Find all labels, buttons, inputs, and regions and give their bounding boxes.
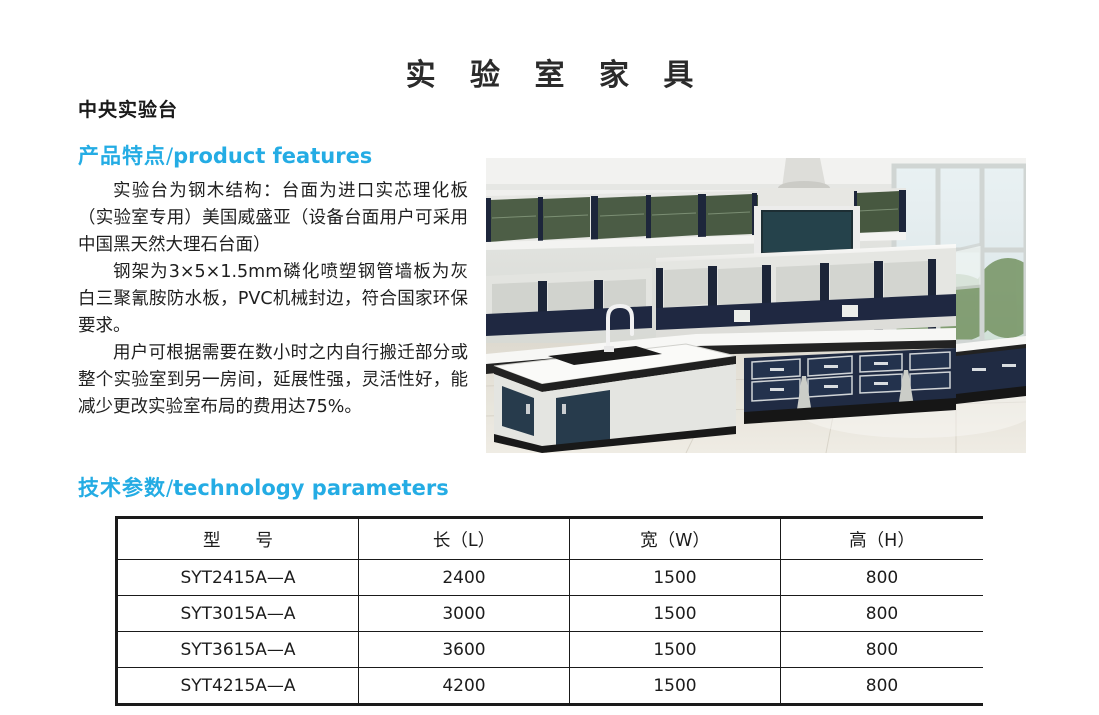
product-features-heading: 产品特点/product features <box>78 140 468 170</box>
table-row: SYT2415A—A 2400 1500 800 <box>118 560 983 596</box>
page-title: 实 验 室 家 具 <box>0 50 1099 94</box>
cell-length: 3600 <box>359 632 570 668</box>
tech-parameters-heading-wrap: 技术参数/technology parameters <box>78 472 449 510</box>
feature-paragraph-1: 实验台为钢木结构：台面为进口实芯理化板（实验室专用）美国威盛亚（设备台面用户可采… <box>78 178 468 259</box>
table-row: SYT3615A—A 3600 1500 800 <box>118 632 983 668</box>
cell-model: SYT2415A—A <box>118 560 359 596</box>
laboratory-photo-illustration <box>486 158 1026 453</box>
cell-width: 1500 <box>570 632 781 668</box>
table-row: SYT3015A—A 3000 1500 800 <box>118 596 983 632</box>
cell-model: SYT3615A—A <box>118 632 359 668</box>
cell-height: 800 <box>781 632 984 668</box>
spec-table-head: 型 号 长（L） 宽（W） 高（H） <box>118 519 983 560</box>
cell-height: 800 <box>781 668 984 704</box>
laboratory-photo <box>486 158 1026 453</box>
spec-table: 型 号 长（L） 宽（W） 高（H） SYT2415A—A 2400 1500 … <box>118 519 983 703</box>
cell-width: 1500 <box>570 596 781 632</box>
table-header-row: 型 号 长（L） 宽（W） 高（H） <box>118 519 983 560</box>
spec-table-body: SYT2415A—A 2400 1500 800 SYT3015A—A 3000… <box>118 560 983 704</box>
product-name-heading: 中央实验台 <box>78 95 468 122</box>
product-features-heading-en: product features <box>173 144 372 168</box>
product-features-heading-zh: 产品特点 <box>78 144 166 168</box>
column-header-model: 型 号 <box>118 519 359 560</box>
cell-length: 2400 <box>359 560 570 596</box>
tech-parameters-heading-en: technology parameters <box>173 476 449 500</box>
table-row: SYT4215A—A 4200 1500 800 <box>118 668 983 704</box>
left-content-column: 中央实验台 产品特点/product features 实验台为钢木结构：台面为… <box>78 95 468 421</box>
spec-table-container: 型 号 长（L） 宽（W） 高（H） SYT2415A—A 2400 1500 … <box>115 516 983 706</box>
column-header-length: 长（L） <box>359 519 570 560</box>
column-header-width: 宽（W） <box>570 519 781 560</box>
cell-height: 800 <box>781 596 984 632</box>
feature-paragraph-2: 钢架为3×5×1.5mm磷化喷塑钢管墙板为灰白三聚氰胺防水板，PVC机械封边，符… <box>78 259 468 340</box>
cell-model: SYT4215A—A <box>118 668 359 704</box>
cell-height: 800 <box>781 560 984 596</box>
feature-paragraph-3: 用户可根据需要在数小时之内自行搬迁部分或整个实验室到另一房间，延展性强，灵活性好… <box>78 340 468 421</box>
cell-length: 3000 <box>359 596 570 632</box>
cell-width: 1500 <box>570 560 781 596</box>
column-header-height: 高（H） <box>781 519 984 560</box>
cell-width: 1500 <box>570 668 781 704</box>
cell-length: 4200 <box>359 668 570 704</box>
cell-model: SYT3015A—A <box>118 596 359 632</box>
tech-parameters-heading-zh: 技术参数 <box>78 476 166 500</box>
tech-parameters-heading: 技术参数/technology parameters <box>78 472 449 502</box>
